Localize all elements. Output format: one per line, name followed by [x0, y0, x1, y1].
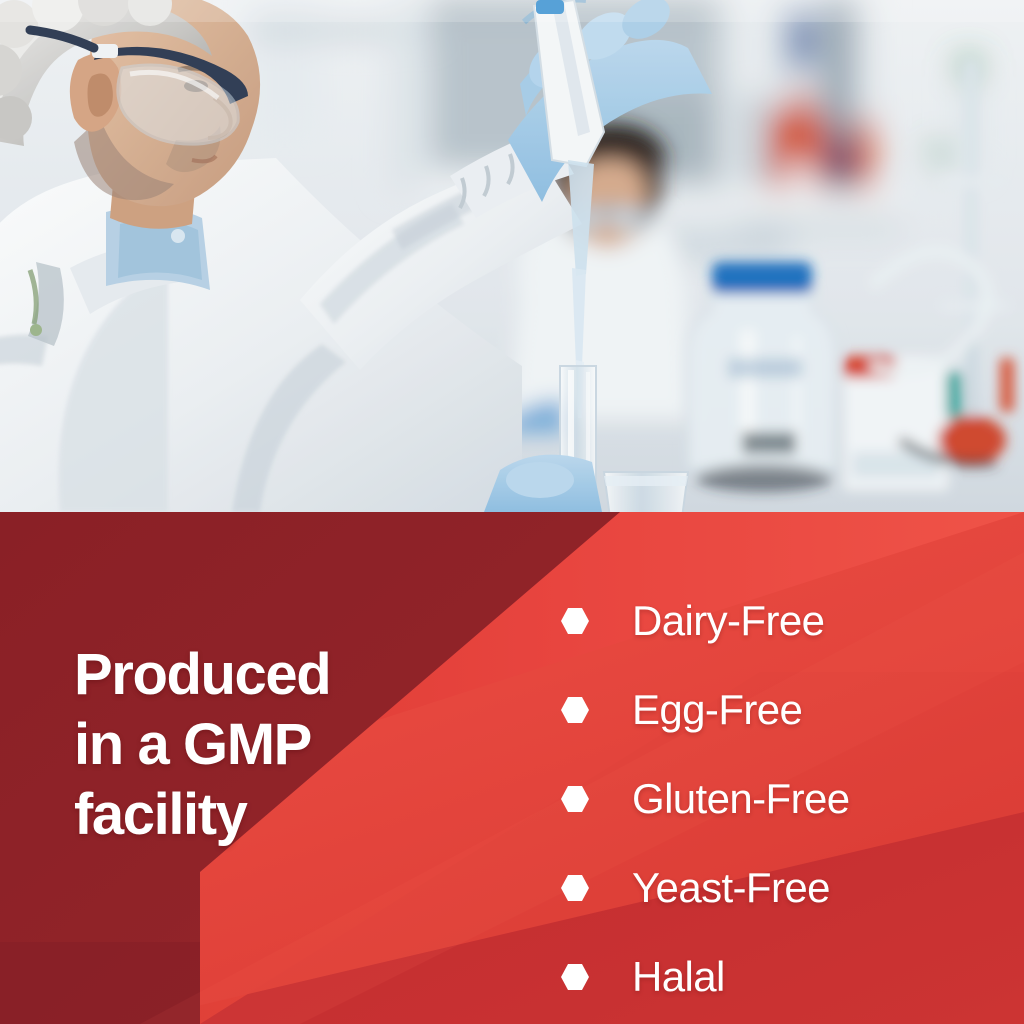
benefits-list: Dairy-Free Egg-Free Gluten-Free Yeast-Fr…: [560, 576, 990, 1021]
list-item: Dairy-Free: [560, 576, 990, 665]
hexagon-bullet-icon: [560, 606, 590, 636]
hexagon-bullet-icon: [560, 695, 590, 725]
headline-line-1: Produced: [74, 640, 474, 710]
benefit-label: Halal: [632, 956, 725, 998]
list-item: Egg-Free: [560, 665, 990, 754]
hexagon-bullet-icon: [560, 873, 590, 903]
benefit-label: Egg-Free: [632, 689, 802, 731]
list-item: Halal: [560, 932, 990, 1021]
hexagon-bullet-icon: [560, 962, 590, 992]
hero-photo: [0, 0, 1024, 512]
hexagon-bullet-icon: [560, 784, 590, 814]
promo-poster: Produced in a GMP facility Dairy-Free Eg…: [0, 0, 1024, 1024]
list-item: Gluten-Free: [560, 754, 990, 843]
headline-line-3: facility: [74, 780, 474, 850]
list-item: Yeast-Free: [560, 843, 990, 932]
headline-line-2: in a GMP: [74, 710, 474, 780]
benefit-label: Yeast-Free: [632, 867, 830, 909]
lab-scene-illustration: [0, 0, 1024, 512]
page-title: Produced in a GMP facility: [74, 640, 474, 850]
benefit-label: Gluten-Free: [632, 778, 850, 820]
benefit-label: Dairy-Free: [632, 600, 824, 642]
benefits-panel: Produced in a GMP facility Dairy-Free Eg…: [0, 512, 1024, 1024]
